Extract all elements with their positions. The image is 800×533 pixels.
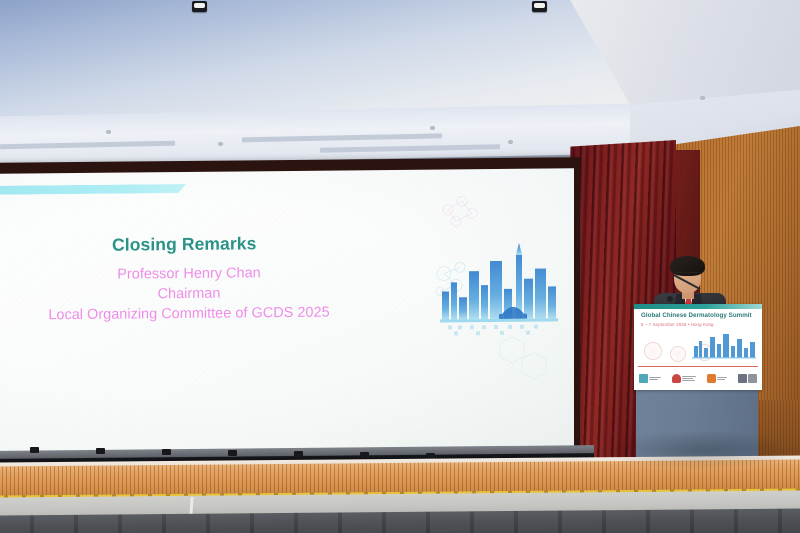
projection-screen: Closing Remarks Professor Henry Chan Cha…: [0, 168, 574, 455]
slide-subtitle-line: Local Organizing Committee of GCDS 2025: [0, 302, 382, 326]
slide-title: Closing Remarks: [112, 233, 256, 255]
screen-clip: [96, 448, 105, 454]
podium-shadow: [600, 430, 800, 470]
banner-watermark: [644, 342, 662, 360]
slide-accent-bar: [0, 184, 186, 195]
skyline-graphic-icon: [420, 198, 570, 349]
banner-title: Global Chinese Dermatology Summit: [641, 312, 752, 319]
screen-clip: [228, 450, 237, 456]
ceiling-spotlight-icon: [532, 1, 547, 12]
banner-watermark: [670, 346, 686, 362]
banner-divider: [638, 366, 758, 367]
screen-clip: [30, 447, 39, 453]
projection-screen-frame: Closing Remarks Professor Henry Chan Cha…: [0, 157, 580, 459]
organiser-logo-3: [707, 374, 727, 383]
downlight-icon: [218, 142, 223, 146]
screen-clip: [294, 451, 303, 457]
screen-clip: [360, 452, 369, 458]
podium-banner: Global Chinese Dermatology Summit 5 – 7 …: [634, 304, 762, 390]
downlight-icon: [508, 140, 513, 144]
slide-subtitle: Professor Henry Chan Chairman Local Orga…: [0, 262, 382, 326]
downlight-icon: [430, 126, 435, 130]
banner-skyline-icon: [688, 328, 760, 360]
screen-clip: [162, 449, 171, 455]
banner-logo-row: [639, 370, 757, 387]
organiser-logo-1: [639, 374, 661, 383]
downlight-icon: [700, 96, 705, 100]
downlight-icon: [106, 130, 111, 134]
ceiling-spotlight-icon: [192, 1, 207, 12]
conference-hall-scene: Closing Remarks Professor Henry Chan Cha…: [0, 0, 800, 533]
organiser-logo-2: [672, 374, 696, 383]
banner-accent-bar: [634, 304, 762, 309]
organiser-logo-4: [738, 374, 757, 383]
microphone-icon: [667, 296, 673, 302]
banner-meta: 5 – 7 September 2025 • Hong Kong: [641, 322, 714, 327]
